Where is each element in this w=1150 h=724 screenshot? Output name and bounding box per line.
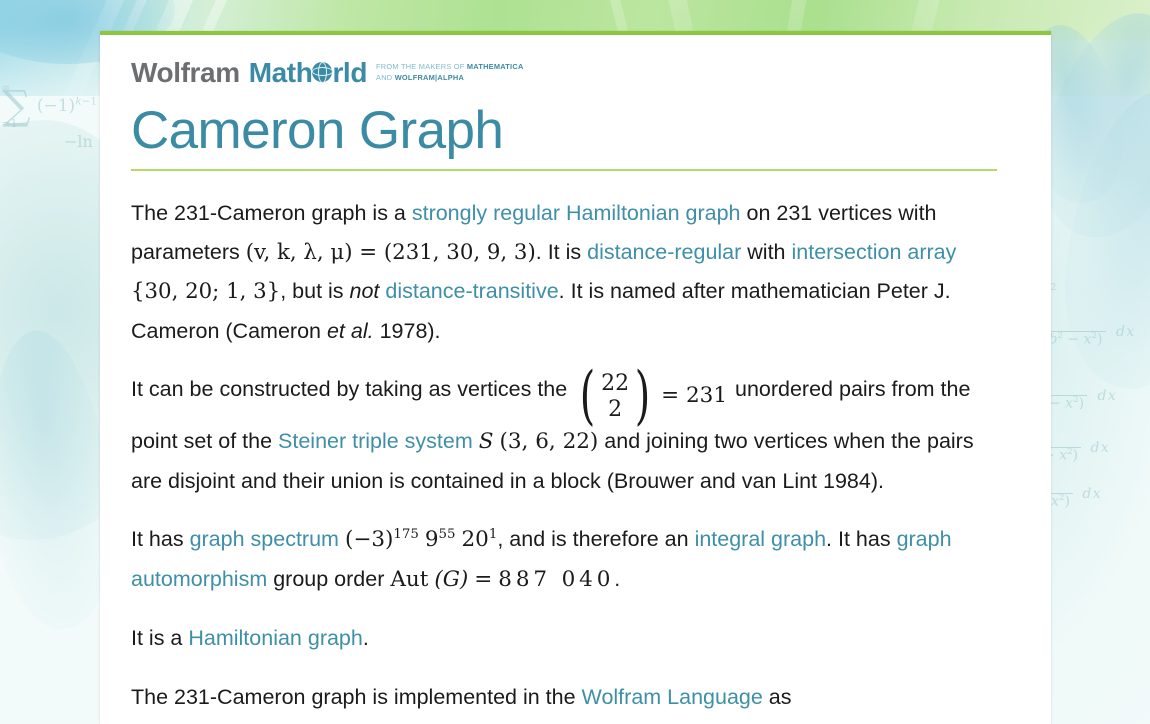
math-binomial-coefficient: (222)= 231 [575, 371, 727, 422]
link-distance-regular[interactable]: distance-regular [587, 240, 741, 264]
link-hamiltonian-graph-2[interactable]: Hamiltonian graph [188, 626, 363, 650]
content-card: Wolfram Mathrld From the makers of Mathe… [100, 31, 1051, 724]
binom-top: 22 [601, 371, 629, 397]
spectrum-term-3: 201 [462, 527, 498, 552]
binom-equals-value: = 231 [661, 377, 727, 416]
link-hamiltonian-graph[interactable]: Hamiltonian graph [566, 201, 741, 225]
link-strongly-regular[interactable]: strongly regular [412, 201, 560, 225]
page-title: Cameron Graph [131, 101, 997, 160]
link-intersection-array[interactable]: intersection array [791, 240, 956, 264]
emphasis-not: not [350, 279, 380, 303]
spectrum-exponent-2: 55 [439, 527, 456, 542]
link-graph-spectrum[interactable]: graph spectrum [190, 527, 339, 551]
logo-math-text: Math [249, 59, 313, 87]
math-aut-order: 887 040 [498, 567, 614, 592]
paragraph-construction: It can be constructed by taking as verti… [131, 370, 997, 500]
binom-bottom: 2 [608, 397, 622, 423]
paragraph-definition: The 231-Cameron graph is a strongly regu… [131, 194, 997, 350]
paragraph-implementation: The 231-Cameron graph is implemented in … [131, 678, 997, 724]
math-group-G: (G) [434, 567, 468, 592]
logo-tagline: From the makers of Mathematica and Wolfr… [376, 62, 524, 83]
binom-right-paren: ) [635, 377, 650, 417]
spectrum-exponent-1: 175 [393, 527, 418, 542]
tagline-line-1: From the makers of Mathematica [376, 62, 524, 71]
spectrum-term-1: (−3)175 [345, 527, 419, 552]
logo-world-text: rld [332, 59, 367, 87]
paragraph-spectrum: It has graph spectrum (−3)175 955 201, a… [131, 520, 997, 599]
link-integral-graph[interactable]: integral graph [695, 527, 826, 551]
binom-left-paren: ( [580, 377, 595, 417]
logo-mathworld-text: Mathrld [249, 59, 367, 87]
article-body: The 231-Cameron graph is a strongly regu… [131, 194, 997, 724]
emphasis-et-al: et al. [327, 319, 374, 343]
link-distance-transitive[interactable]: distance-transitive [385, 279, 558, 303]
site-logo[interactable]: Wolfram Mathrld From the makers of Mathe… [131, 59, 997, 93]
math-srg-parameters: (v, k, λ, μ) = (231, 30, 9, 3) [246, 240, 536, 265]
link-wolfram-language[interactable]: Wolfram Language [582, 685, 763, 709]
math-steiner-params: (3, 6, 22) [499, 429, 598, 454]
globe-icon [312, 62, 332, 82]
math-S-symbol: S [479, 429, 494, 454]
link-steiner-triple-system[interactable]: Steiner triple system [278, 429, 473, 453]
tagline-line-2: and Wolfram|Alpha [376, 73, 464, 82]
spectrum-term-2: 955 [425, 527, 456, 552]
math-intersection-array: {30, 20; 1, 3} [131, 279, 280, 304]
math-aut-operator: Aut [390, 567, 428, 592]
logo-wolfram-text: Wolfram [131, 59, 240, 87]
math-equals: = [474, 567, 492, 592]
title-divider [131, 169, 997, 171]
paragraph-hamiltonian: It is a Hamiltonian graph. [131, 619, 997, 658]
